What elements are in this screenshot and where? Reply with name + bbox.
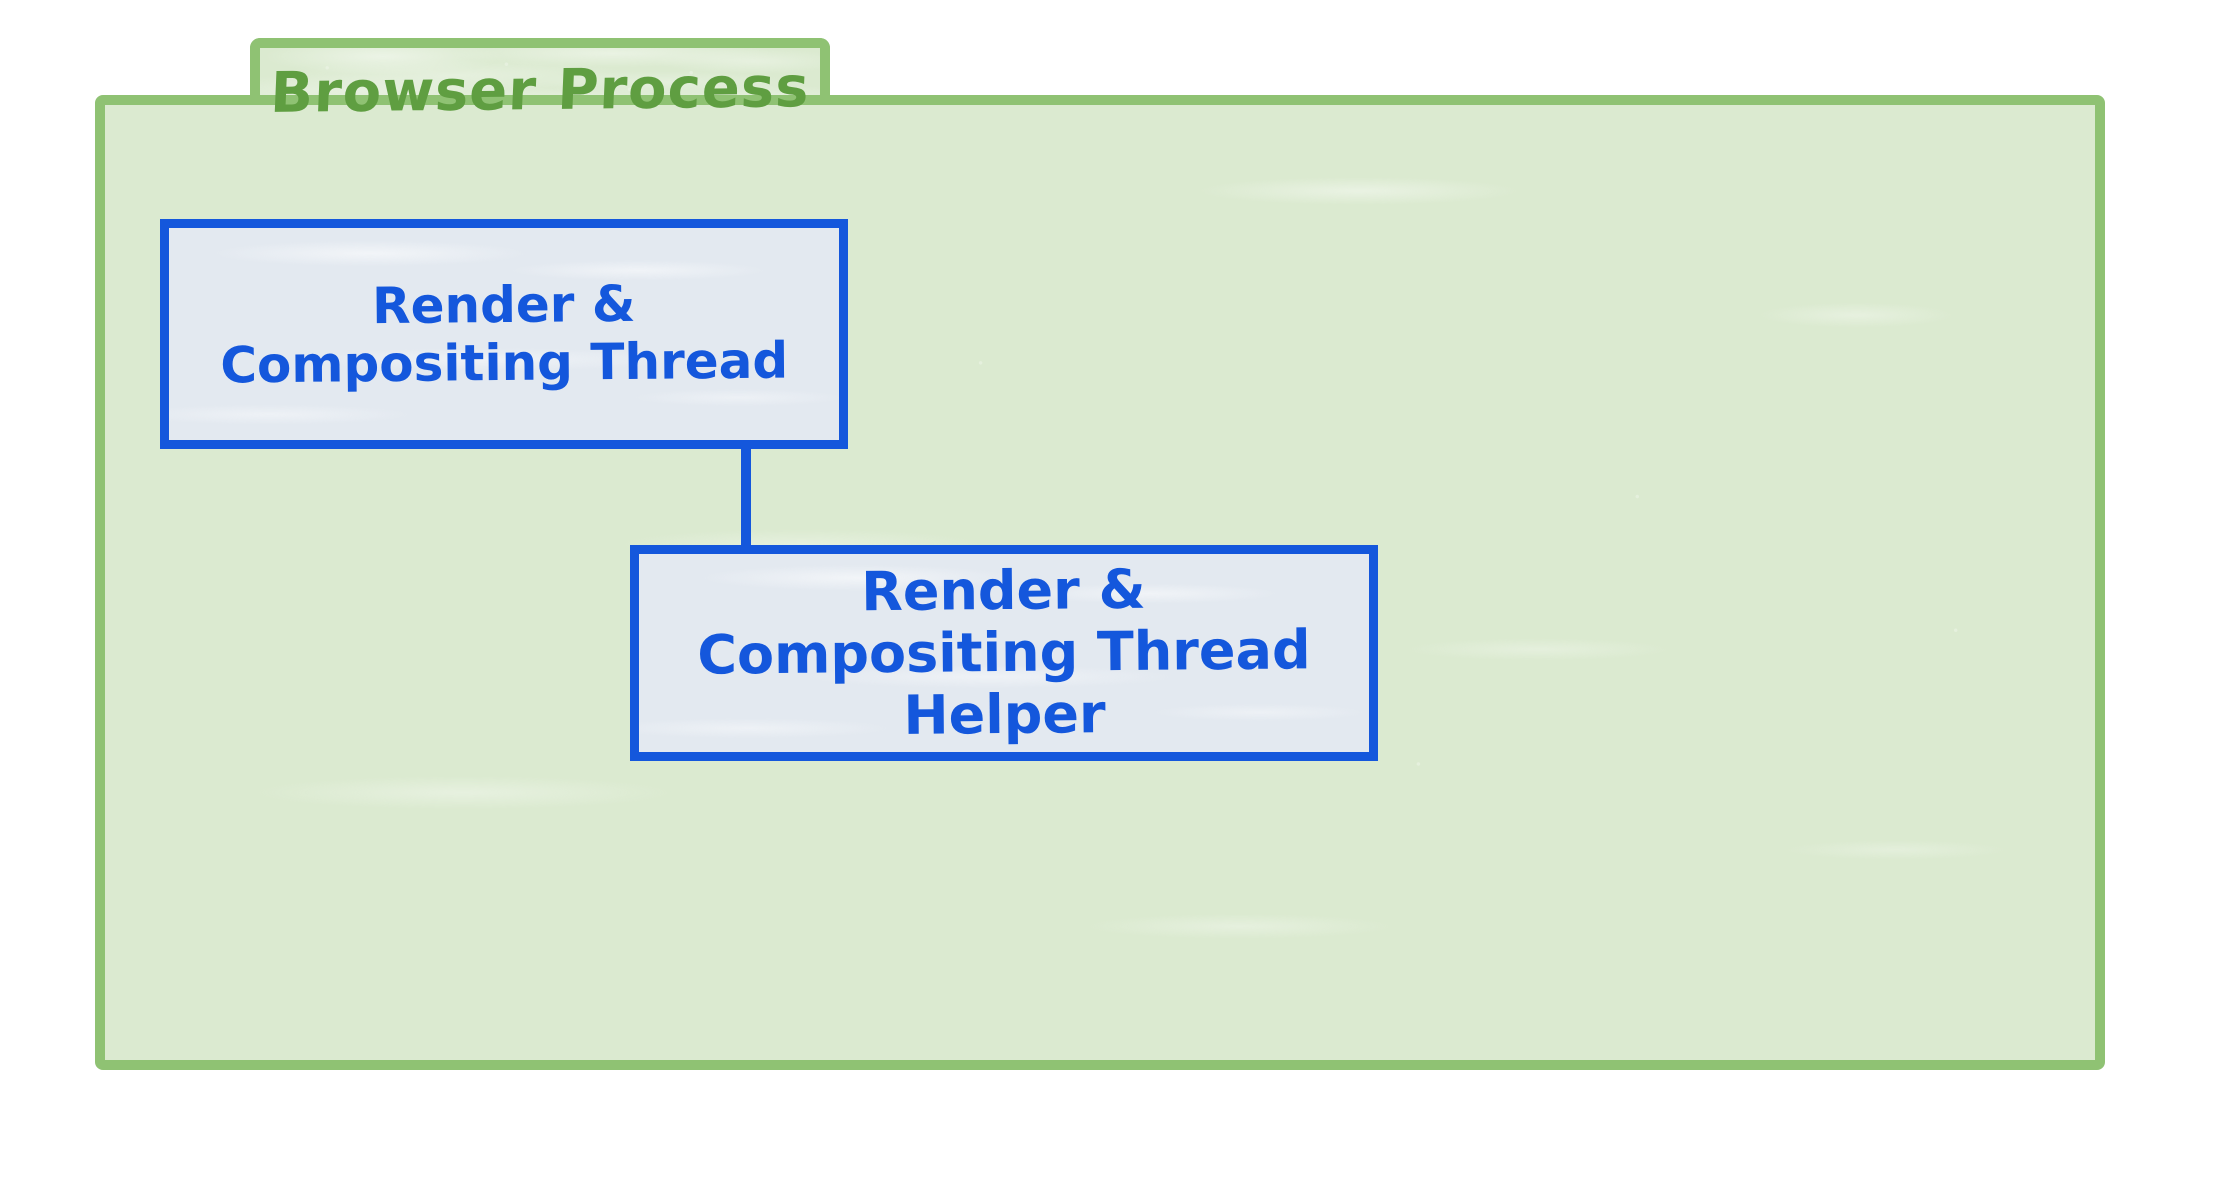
- process-body: Render & Compositing Thread Render & Com…: [95, 95, 2105, 1070]
- thread-box-render-compositing-thread-helper[interactable]: Render & Compositing Thread Helper: [630, 545, 1378, 761]
- thread-box-render-compositing-thread[interactable]: Render & Compositing Thread: [160, 219, 848, 449]
- thread-helper-box-label: Render & Compositing Thread Helper: [638, 557, 1370, 750]
- diagram-canvas: Render & Compositing Thread Render & Com…: [0, 0, 2235, 1191]
- connector-thread-to-helper: [741, 445, 751, 549]
- process-title: Browser Process: [248, 43, 832, 137]
- browser-process-container: Render & Compositing Thread Render & Com…: [95, 38, 2105, 1070]
- thread-box-label: Render & Compositing Thread: [169, 274, 840, 395]
